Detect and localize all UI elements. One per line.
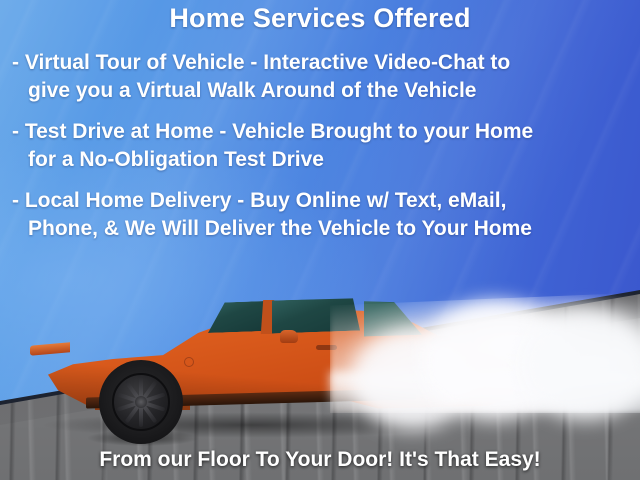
tagline: From our Floor To Your Door! It's That E…: [0, 448, 640, 472]
service-line: - Virtual Tour of Vehicle - Interactive …: [0, 49, 640, 77]
rear-wheel-rim: [112, 373, 170, 431]
page-title: Home Services Offered: [0, 3, 640, 34]
wheel-hub: [135, 396, 147, 408]
side-mirror: [280, 330, 298, 343]
promo-banner: Home Services Offered - Virtual Tour of …: [0, 0, 640, 480]
service-line: Phone, & We Will Deliver the Vehicle to …: [0, 215, 640, 243]
service-line: give you a Virtual Walk Around of the Ve…: [0, 77, 640, 105]
rear-deck-lip: [30, 342, 70, 355]
smoke-puff: [520, 310, 640, 420]
fuel-cap: [184, 357, 194, 367]
list-item: - Local Home Delivery - Buy Online w/ Te…: [0, 187, 640, 243]
rear-quarter-window: [208, 301, 264, 333]
list-item: - Test Drive at Home - Vehicle Brought t…: [0, 118, 640, 174]
list-item: - Virtual Tour of Vehicle - Interactive …: [0, 49, 640, 105]
service-line: - Local Home Delivery - Buy Online w/ Te…: [0, 187, 640, 215]
services-list: - Virtual Tour of Vehicle - Interactive …: [0, 49, 640, 256]
service-line: - Test Drive at Home - Vehicle Brought t…: [0, 118, 640, 146]
service-line: for a No-Obligation Test Drive: [0, 146, 640, 174]
